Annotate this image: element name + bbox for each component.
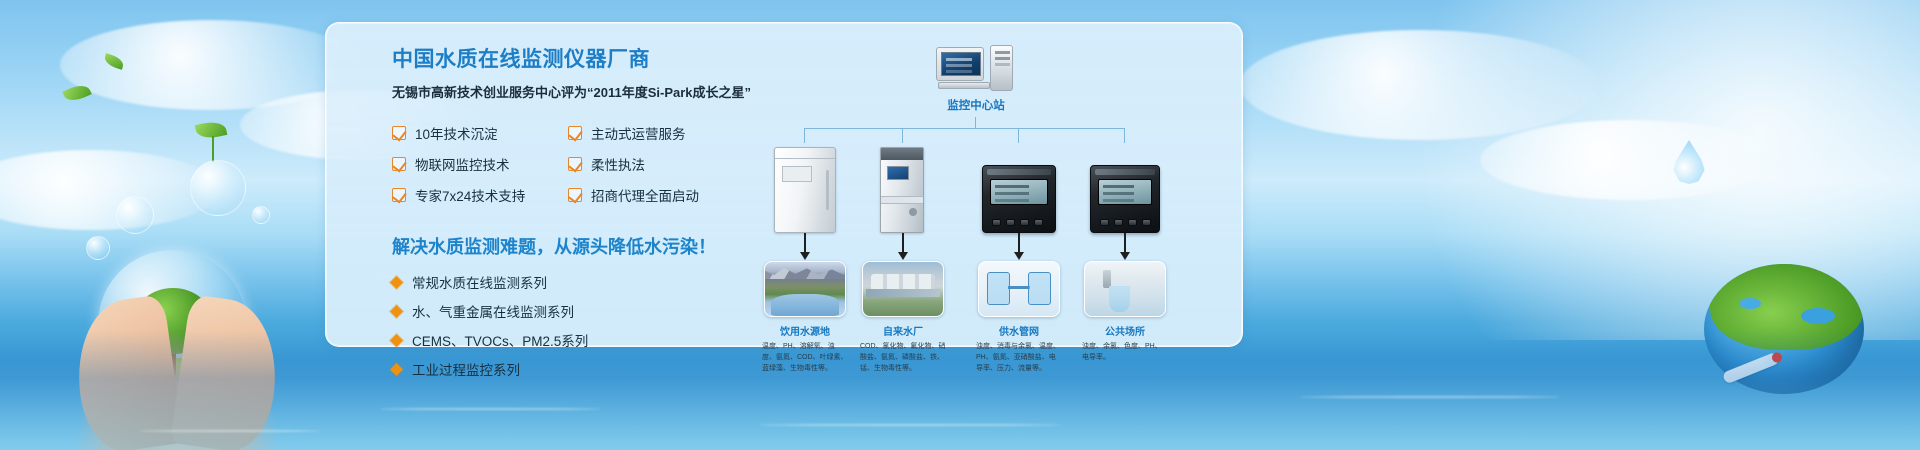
checkbox-checked-icon [568,157,582,171]
system-diagram: 监控中心站 [756,29,1226,347]
page-subtitle: 无锡市高新技术创业服务中心评为“2011年度Si-Park成长之星” [392,82,752,101]
cloud-3 [1240,30,1600,140]
controller-body [982,165,1056,233]
diamond-bullet-icon [390,334,403,347]
connector-trunk [975,117,976,128]
ripple-2 [760,424,1060,426]
check-item-1: 主动式运营服务 [568,123,744,143]
connector-lines [756,117,1226,143]
scene-photo-pipe-network [978,261,1060,317]
ripple-1 [380,408,600,410]
scene-title: 自来水厂 [862,323,944,338]
rack-top [881,148,923,160]
check-label: 主动式运营服务 [591,123,686,143]
controller-top-strip [1095,169,1155,175]
bullet-item-1: 水、气重金属在线监测系列 [392,301,752,321]
ripple-3 [1300,396,1560,398]
application-scenes: 饮用水源地 温度、PH、溶解氧、浊度、氨氮、COD、叶绿素、蓝绿藻、生物毒性等。… [756,261,1226,347]
bullet-label: CEMS、TVOCs、PM2.5系列 [412,330,588,350]
controller-key [1128,219,1137,226]
arrow-down-icon [1124,233,1126,253]
scene-title: 供水管网 [978,323,1060,338]
check-label: 10年技术沉淀 [415,123,498,143]
scene-title: 公共场所 [1084,323,1166,338]
page-title: 中国水质在线监测仪器厂商 [392,43,752,73]
controller-key [992,219,1001,226]
bullet-label: 水、气重金属在线监测系列 [412,301,574,321]
controller-top-strip [987,169,1051,175]
earth-lake-left [1739,298,1761,309]
monitoring-center-label: 监控中心站 [886,97,1066,113]
check-label: 专家7x24技术支持 [415,185,525,205]
keyboard-icon [938,82,990,89]
rack-body [880,147,924,233]
controller-key [1142,219,1151,226]
controller-key [1114,219,1123,226]
diamond-bullet-icon [390,276,403,289]
bullet-label: 常规水质在线监测系列 [412,272,547,292]
content-panel: 中国水质在线监测仪器厂商 无锡市高新技术创业服务中心评为“2011年度Si-Pa… [325,22,1243,347]
scene-photo-public-place [1084,261,1166,317]
controller-key [1100,219,1109,226]
sprout-stem [212,136,214,162]
check-item-3: 柔性执法 [568,154,744,174]
scene-photo-river [764,261,846,317]
cabinet-panel [782,166,812,182]
rack-screen [887,166,909,180]
bullet-label: 工业过程监控系列 [412,359,520,379]
checkbox-checked-icon [568,126,582,140]
arrow-down-icon [804,233,806,253]
checkbox-checked-icon [392,126,406,140]
controller-lcd [1098,179,1152,205]
rack-band [881,196,923,204]
controller-key [1006,219,1015,226]
check-label: 物联网监控技术 [415,154,510,174]
diamond-bullet-icon [390,363,403,376]
controller-lcd [990,179,1048,205]
check-label: 柔性执法 [591,154,645,174]
pc-tower-icon [990,45,1013,91]
controller-keypad [1100,219,1151,226]
cloud-4 [1480,120,1780,200]
scene-description: COD、氯化物、氟化物、硝酸盐、氨氮、磷酸盐、铁、锰、生物毒性等。 [860,342,946,375]
arrow-down-icon [1018,233,1020,253]
pipe-connector [1008,286,1030,289]
solution-heading: 解决水质监测难题，从源头降低水污染！ [392,233,752,259]
water-quality-banner: 中国水质在线监测仪器厂商 无锡市高新技术创业服务中心评为“2011年度Si-Pa… [0,0,1920,450]
controller-body [1090,165,1160,233]
rack-knob [909,208,917,216]
scene-card-1: 自来水厂 COD、氯化物、氟化物、硝酸盐、氨氮、磷酸盐、铁、锰、生物毒性等。 [862,261,944,375]
ripple-4 [140,430,320,432]
bullet-item-2: CEMS、TVOCs、PM2.5系列 [392,330,752,350]
feature-checklist: 10年技术沉淀 主动式运营服务 物联网监控技术 柔性执法 专家7x24技术支持 [392,123,752,205]
controller-key [1020,219,1029,226]
controller-keypad [992,219,1043,226]
bullet-item-0: 常规水质在线监测系列 [392,272,752,292]
controller-key [1034,219,1043,226]
cabinet-body [774,147,836,233]
scene-card-2: 供水管网 浊度、消毒与余氯、温度、PH、氨氮、亚硝酸盐、电导率、压力、流量等。 [978,261,1060,375]
scene-card-3: 公共场所 浊度、余氯、色度、PH、电导率。 [1084,261,1166,364]
leaf-3 [195,119,228,141]
arrow-down-icon [902,233,904,253]
scene-title: 饮用水源地 [764,323,846,338]
device-row [756,141,1226,233]
check-item-2: 物联网监控技术 [392,154,568,174]
left-text-column: 中国水质在线监测仪器厂商 无锡市高新技术创业服务中心评为“2011年度Si-Pa… [392,43,752,379]
check-label: 招商代理全面启动 [591,185,699,205]
checkbox-checked-icon [392,157,406,171]
bullet-item-3: 工业过程监控系列 [392,359,752,379]
device-controller-two [1090,165,1160,233]
water-surface [0,330,1920,450]
scene-photo-waterworks [862,261,944,317]
device-white-cabinet [774,147,836,233]
flow-arrows [756,233,1226,263]
check-item-4: 专家7x24技术支持 [392,185,568,205]
cloud-5 [0,150,220,230]
monitor-screen [941,52,981,76]
checkbox-checked-icon [392,188,406,202]
scene-description: 浊度、余氯、色度、PH、电导率。 [1082,342,1168,364]
device-rack-analyser [880,147,924,233]
check-item-0: 10年技术沉淀 [392,123,568,143]
scene-description: 浊度、消毒与余氯、温度、PH、氨氮、亚硝酸盐、电导率、压力、流量等。 [976,342,1062,375]
monitor-icon [936,47,984,81]
device-controller-one [982,165,1056,233]
check-item-5: 招商代理全面启动 [568,185,744,205]
bubble-1 [190,160,246,216]
connector-horizontal [804,128,1124,129]
scene-card-0: 饮用水源地 温度、PH、溶解氧、浊度、氨氮、COD、叶绿素、蓝绿藻、生物毒性等。 [764,261,846,375]
product-series-list: 常规水质在线监测系列 水、气重金属在线监测系列 CEMS、TVOCs、PM2.5… [392,272,752,379]
monitoring-center-computer-icon [936,45,1014,93]
scene-description: 温度、PH、溶解氧、浊度、氨氮、COD、叶绿素、蓝绿藻、生物毒性等。 [762,342,848,375]
diamond-bullet-icon [390,305,403,318]
checkbox-checked-icon [568,188,582,202]
